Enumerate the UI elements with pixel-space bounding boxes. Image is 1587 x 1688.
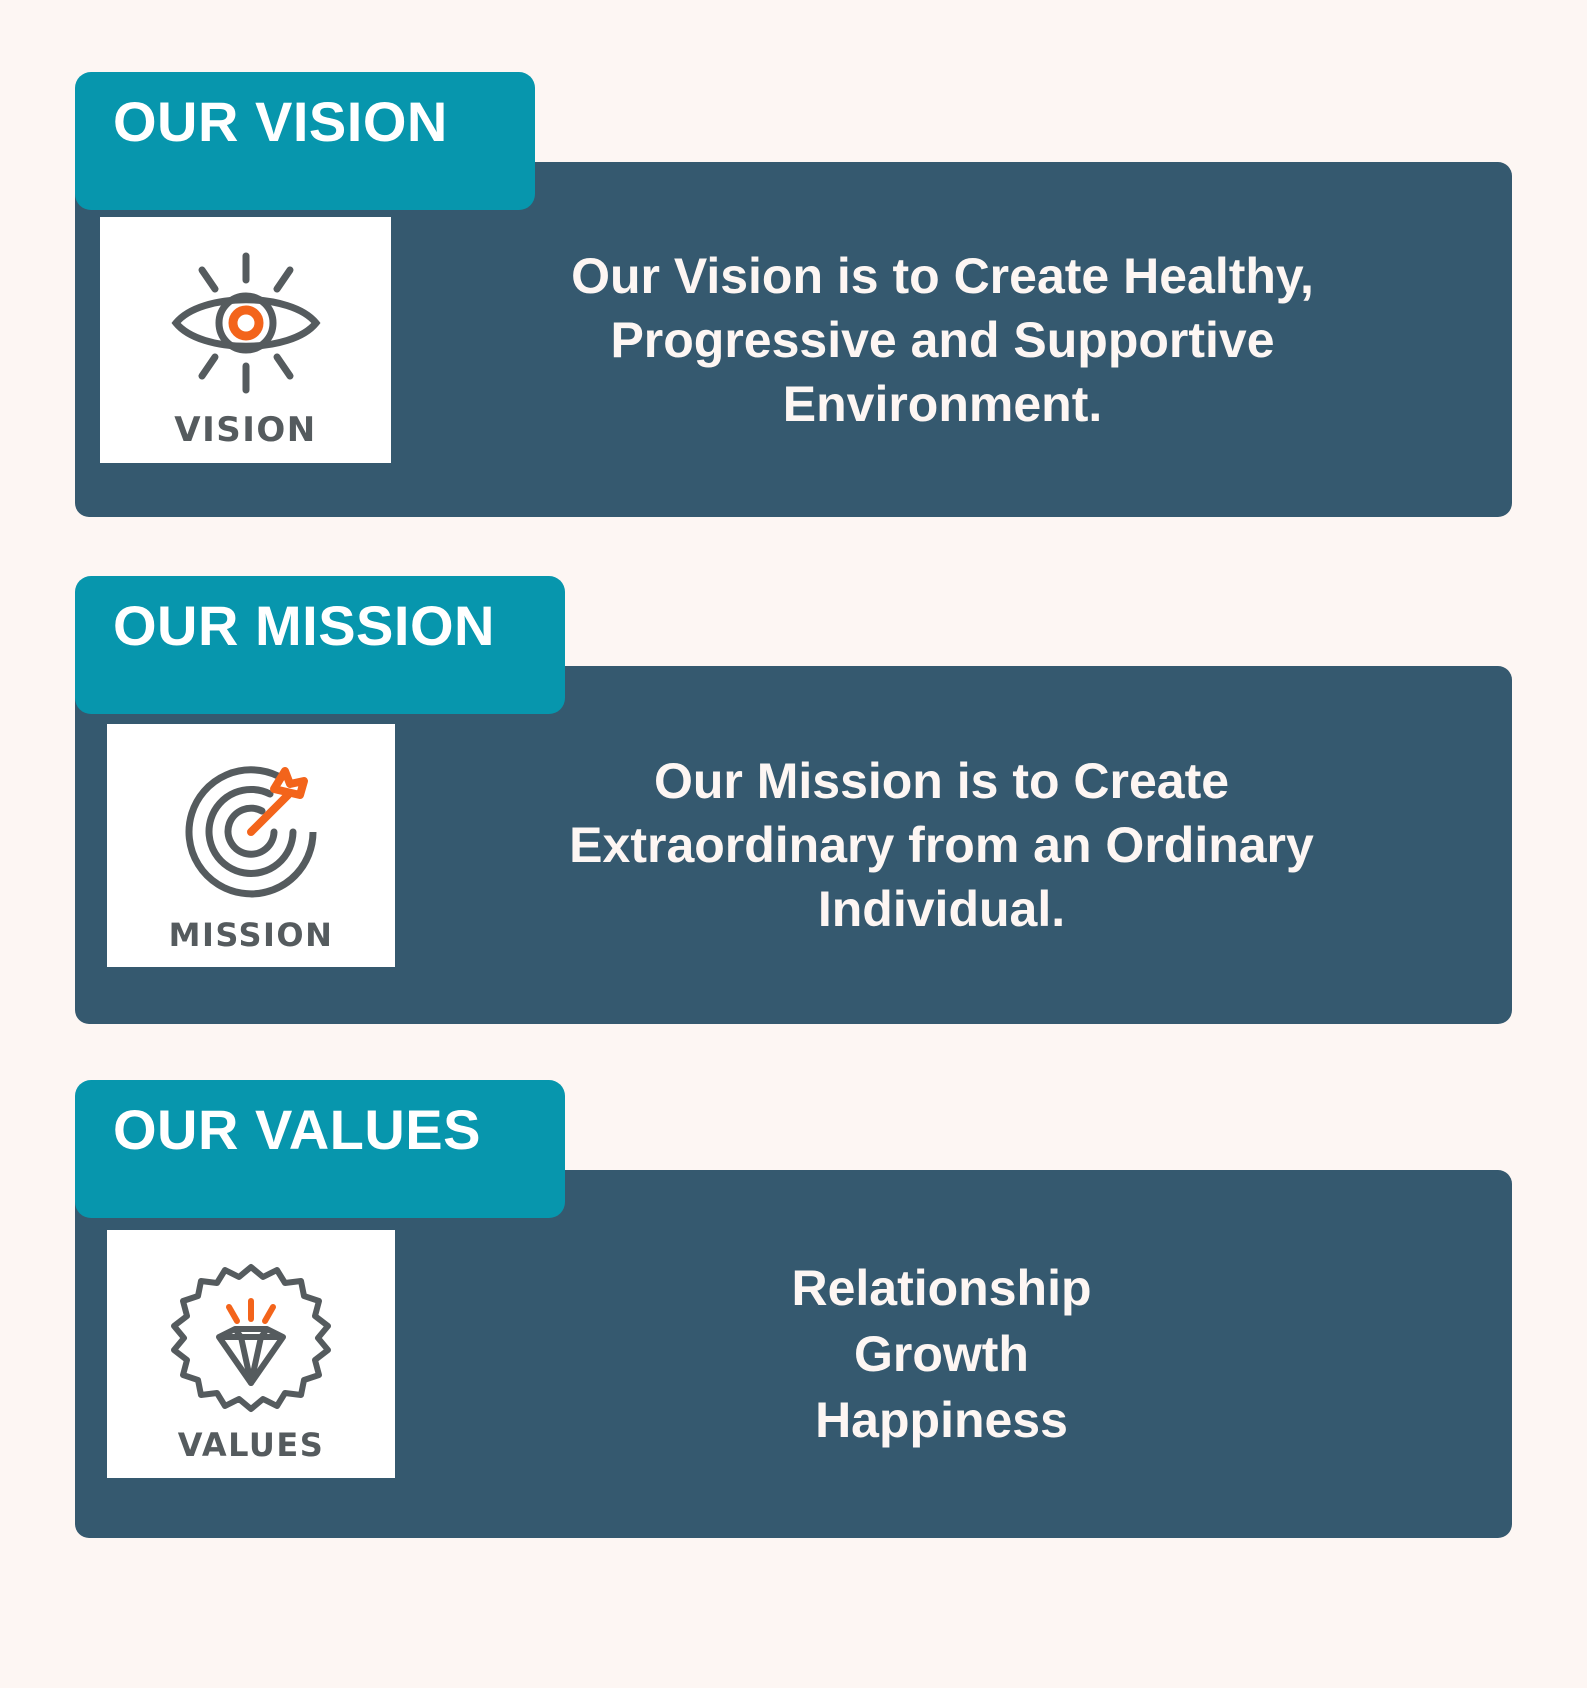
value-item-happiness: Happiness xyxy=(427,1387,1456,1453)
card-text-values: Relationship Growth Happiness xyxy=(395,1255,1482,1453)
icon-box-mission: MISSION xyxy=(107,724,395,967)
card-text-vision: Our Vision is to Create Healthy, Progres… xyxy=(391,244,1482,436)
badge-our-values: OUR VALUES xyxy=(75,1080,565,1218)
icon-caption-mission: MISSION xyxy=(169,919,334,951)
card-vision: VISION Our Vision is to Create Healthy, … xyxy=(75,162,1512,517)
card-mission: MISSION Our Mission is to Create Extraor… xyxy=(75,666,1512,1024)
section-mission: OUR MISSION xyxy=(75,576,1512,1024)
vision-line-1: Our Vision is to Create Healthy, xyxy=(427,244,1458,308)
badge-our-vision: OUR VISION xyxy=(75,72,535,210)
vision-line-3: Environment. xyxy=(427,372,1458,436)
card-values: VALUES Relationship Growth Happiness xyxy=(75,1170,1512,1538)
section-vision: OUR VISION xyxy=(75,72,1512,517)
icon-box-values: VALUES xyxy=(107,1230,395,1478)
badge-our-mission: OUR MISSION xyxy=(75,576,565,714)
value-item-relationship: Relationship xyxy=(427,1255,1456,1321)
icon-caption-values: VALUES xyxy=(178,1429,325,1461)
icon-box-vision: VISION xyxy=(100,217,391,463)
card-text-mission: Our Mission is to Create Extraordinary f… xyxy=(395,749,1482,941)
diamond-badge-icon xyxy=(167,1261,335,1421)
section-values: OUR VALUES xyxy=(75,1080,1512,1538)
target-with-arrow-icon xyxy=(166,754,336,909)
mission-line-2: Extraordinary from an Ordinary xyxy=(427,813,1456,877)
mission-line-3: Individual. xyxy=(427,877,1456,941)
icon-caption-vision: VISION xyxy=(174,413,316,447)
eye-with-rays-icon xyxy=(156,248,336,403)
mission-line-1: Our Mission is to Create xyxy=(427,749,1456,813)
vision-line-2: Progressive and Supportive xyxy=(427,308,1458,372)
vision-mission-values-infographic: OUR VISION xyxy=(0,0,1587,1688)
value-item-growth: Growth xyxy=(427,1321,1456,1387)
